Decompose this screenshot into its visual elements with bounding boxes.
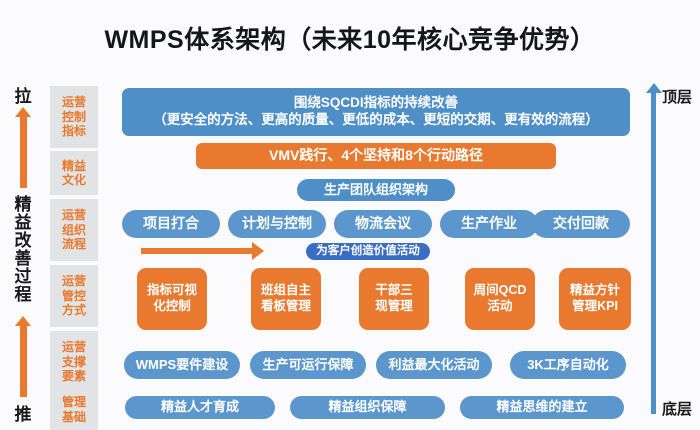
chip-line: 运营: [62, 95, 86, 109]
method-card-line: 班组自主: [261, 283, 311, 299]
chip-line: 组织: [62, 223, 86, 237]
foundation-pill-lean-org-guarantee[interactable]: 精益组织保障: [290, 396, 445, 419]
method-card-line: 管理KPI: [572, 299, 618, 315]
chip-line: 精益: [62, 159, 86, 173]
left-rail-process-char: 过: [8, 268, 38, 286]
chip-line: 方式: [62, 303, 86, 317]
method-card-line: 活动: [487, 299, 512, 315]
process-pill-plan-and-control[interactable]: 计划与控制: [228, 210, 326, 238]
support-pill-wmps-requirement-construction[interactable]: WMPS要件建设: [124, 351, 240, 379]
process-pill-logistics-meeting[interactable]: 物流会议: [334, 210, 432, 238]
right-rail-top-label: 顶层: [662, 86, 700, 107]
chip-line: 控制: [62, 110, 86, 124]
org-structure-pill[interactable]: 生产团队组织架构: [297, 179, 455, 201]
left-rail-process-char: 程: [8, 286, 38, 304]
foundation-pill-lean-talent-development[interactable]: 精益人才育成: [125, 396, 275, 419]
left-rail-top-label: 拉: [8, 82, 38, 107]
left-rail-process-char: 精: [8, 196, 38, 214]
support-pill-profit-maximization-activity[interactable]: 利益最大化活动: [376, 351, 492, 379]
chip-line: 管控: [62, 289, 86, 303]
left-rail-process-label: 精 益 改 善 过 程: [8, 196, 38, 304]
method-card-cadre-three-site-management[interactable]: 干部三 现管理: [359, 268, 429, 330]
sidebar-chip-operation-support-element[interactable]: 运营 支撑 要素: [50, 331, 98, 393]
method-card-line: 化控制: [153, 299, 191, 315]
process-pill-project-matching[interactable]: 项目打合: [122, 210, 220, 238]
left-rail-bottom-label: 推: [8, 400, 38, 425]
method-card-line: 精益方针: [570, 283, 620, 299]
support-pill-3k-process-automation[interactable]: 3K工序自动化: [510, 351, 626, 379]
layer-arrow-up-icon: [651, 92, 656, 414]
sqcdi-banner[interactable]: 围绕SQCDI指标的持续改善 （更安全的方法、更高的质量、更低的成本、更短的交期…: [122, 88, 630, 136]
chip-line: 要素: [62, 369, 86, 383]
method-card-line: 周间QCD: [474, 283, 527, 299]
method-card-weekly-qcd-activity[interactable]: 周间QCD 活动: [465, 268, 535, 330]
sqcdi-banner-line2: （更安全的方法、更高的质量、更低的成本、更短的交期、更有效的流程）: [153, 112, 599, 129]
process-pill-production-operation[interactable]: 生产作业: [440, 210, 538, 238]
process-pill-delivery-payment[interactable]: 交付回款: [532, 210, 630, 238]
diagram-canvas: WMPS体系架构（未来10年核心竞争优势） 拉 精 益 改 善 过 程 推 运营…: [0, 0, 700, 430]
left-rail-process-char: 益: [8, 214, 38, 232]
chip-line: 支撑: [62, 355, 86, 369]
chip-line: 运营: [62, 340, 86, 354]
chip-line: 流程: [62, 237, 86, 251]
sidebar-chip-management-foundation[interactable]: 管理 基础: [50, 389, 98, 430]
chip-line: 基础: [62, 410, 86, 424]
page-title: WMPS体系架构（未来10年核心竞争优势）: [0, 20, 700, 56]
method-card-line: 现管理: [375, 299, 413, 315]
chip-line: 管理: [62, 395, 86, 409]
sidebar-chip-operation-control-index[interactable]: 运营 控制 指标: [50, 86, 98, 148]
method-card-lean-policy-kpi[interactable]: 精益方针 管理KPI: [559, 268, 631, 330]
push-arrow-up-icon: [20, 325, 27, 397]
method-card-line: 干部三: [375, 283, 413, 299]
chip-line: 文化: [62, 173, 86, 187]
right-rail-bottom-label: 底层: [662, 398, 700, 419]
foundation-pill-lean-thinking-establishment[interactable]: 精益思维的建立: [460, 396, 624, 419]
pull-arrow-up-icon: [20, 116, 27, 188]
sidebar-chip-operation-control-method[interactable]: 运营 管控 方式: [50, 265, 98, 327]
support-pill-production-operability-guarantee[interactable]: 生产可运行保障: [250, 351, 366, 379]
method-card-index-visual-control[interactable]: 指标可视 化控制: [137, 268, 207, 330]
sidebar-chip-operation-org-process[interactable]: 运营 组织 流程: [50, 199, 98, 261]
sqcdi-banner-line1: 围绕SQCDI指标的持续改善: [294, 95, 458, 112]
chip-line: 运营: [62, 274, 86, 288]
method-card-line: 看板管理: [261, 299, 311, 315]
method-card-line: 指标可视: [147, 283, 197, 299]
method-card-team-kanban-management[interactable]: 班组自主 看板管理: [251, 268, 321, 330]
left-rail-process-char: 善: [8, 250, 38, 268]
value-flow-arrow-icon: [141, 248, 253, 254]
value-creation-pill[interactable]: 为客户创造价值活动: [306, 243, 430, 260]
chip-line: 指标: [62, 124, 86, 138]
chip-line: 运营: [62, 208, 86, 222]
vmv-bar[interactable]: VMV践行、4个坚持和8个行动路径: [196, 143, 556, 169]
left-rail-process-char: 改: [8, 232, 38, 250]
sidebar-chip-lean-culture[interactable]: 精益 文化: [50, 151, 98, 195]
